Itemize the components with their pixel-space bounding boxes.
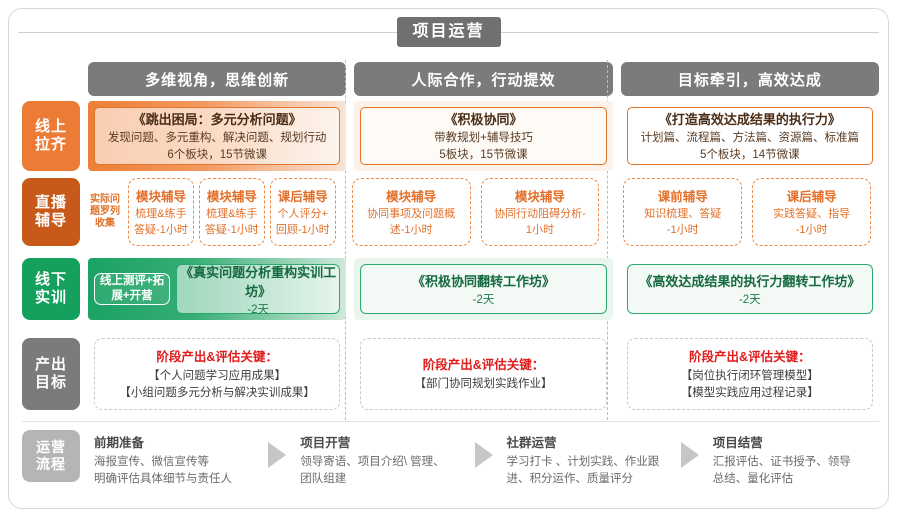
live-card-1-1: 模块辅导 梳理&练手 答疑-1小时 — [128, 178, 194, 246]
online-card-1: 《跳出困局：多元分析问题》 发现问题、多元重构、解决问题、规划行动 6个板块，1… — [94, 107, 340, 165]
offline-card-2-line1: -2天 — [473, 291, 495, 307]
online-card-2-line1: 带教规划+辅导技巧 — [434, 130, 533, 147]
offline-card-2: 《积极协同翻转工作坊》 -2天 — [360, 264, 606, 314]
offline-card-1-line1: -2天 — [247, 301, 269, 317]
process-arrow-1-icon — [260, 430, 294, 470]
column-header-row: 多维视角，思维创新 人际合作，行动提效 目标牵引，高效达成 — [88, 62, 879, 96]
process-arrow-3-icon — [673, 430, 707, 470]
live-card-3-2-line1: 实践答疑、指导 — [773, 207, 850, 223]
online-card-2-title: 《积极协同》 — [444, 109, 522, 128]
live-card-2-2-title: 模块辅导 — [515, 186, 565, 205]
live-card-1-1-line2: 答疑-1小时 — [134, 223, 188, 239]
output-card-3-line2: 【模型实践应用过程记录】 — [681, 385, 819, 402]
row-live-coaching: 直播 辅导 实际问题罗列收集 模块辅导 梳理&练手 答疑-1小时 模块辅导 梳理… — [22, 178, 879, 246]
row-offline-training: 线下 实训 线上测评+拓展+开营 《真实问题分析重构实训工坊》 -2天 《积极协… — [22, 258, 879, 320]
process-step-2-line2: 团队组建 — [300, 471, 462, 488]
process-step-3-line1: 学习打卡 、计划实践、作业跟 — [507, 454, 669, 471]
live-side-note: 实际问题罗列收集 — [88, 194, 122, 231]
live-card-2-2: 模块辅导 协同行动阻碍分析- 1小时 — [481, 178, 600, 246]
live-card-1-2-line1: 梳理&练手 — [206, 207, 257, 223]
output-cell-1: 阶段产出&评估关键： 【个人问题学习应用成果】 【小组问题多元分析与解决实训成果… — [88, 338, 346, 410]
process-section-divider — [22, 421, 879, 422]
output-card-1-line1: 【个人问题学习应用成果】 — [148, 368, 286, 385]
offline-card-3-line1: -2天 — [739, 291, 761, 307]
process-arrow-2-icon — [467, 430, 501, 470]
output-cell-2: 阶段产出&评估关键： 【部门协同规划实践作业】 — [354, 338, 612, 410]
live-card-2-1-line1: 协同事项及问题概 — [367, 207, 455, 223]
online-card-2: 《积极协同》 带教规划+辅导技巧 5板块，15节微课 — [360, 107, 606, 165]
online-card-3: 《打造高效达成结果的执行力》 计划篇、流程篇、方法篇、资源篇、标准篇 5个板块，… — [627, 107, 873, 165]
row-operation-process: 运营 流程 前期准备 海报宣传、微信宣传等 明确评估具体细节与责任人 项目开营 … — [22, 430, 879, 494]
output-card-2-title: 阶段产出&评估关键： — [423, 354, 545, 373]
output-card-1-line2: 【小组问题多元分析与解决实训成果】 — [119, 385, 315, 402]
column-header-1: 多维视角，思维创新 — [88, 62, 346, 96]
row-label-live: 直播 辅导 — [22, 178, 80, 246]
output-card-3: 阶段产出&评估关键： 【岗位执行闭环管理模型】 【模型实践应用过程记录】 — [627, 338, 873, 410]
output-card-1-title: 阶段产出&评估关键： — [156, 346, 278, 365]
live-card-1-3: 课后辅导 个人评分+ 回顾-1小时 — [270, 178, 336, 246]
row-label-live-line1: 直播 — [35, 194, 67, 211]
row-label-output-line1: 产出 — [35, 356, 67, 373]
live-card-1-3-title: 课后辅导 — [278, 186, 328, 205]
process-step-2-title: 项目开营 — [300, 432, 462, 451]
offline-cell-2: 《积极协同翻转工作坊》 -2天 — [354, 258, 612, 320]
online-cell-1: 《跳出困局：多元分析问题》 发现问题、多元重构、解决问题、规划行动 6个板块，1… — [88, 101, 346, 171]
row-label-output: 产出 目标 — [22, 338, 80, 410]
live-card-1-2: 模块辅导 梳理&练手 答疑-1小时 — [199, 178, 265, 246]
offline-cell-1: 线上测评+拓展+开营 《真实问题分析重构实训工坊》 -2天 — [88, 258, 346, 320]
live-cell-3: 课前辅导 知识梳理、答疑 -1小时 课后辅导 实践答疑、指导 -1小时 — [615, 178, 879, 246]
row-output-goals: 产出 目标 阶段产出&评估关键： 【个人问题学习应用成果】 【小组问题多元分析与… — [22, 338, 879, 410]
live-card-3-1-line2: -1小时 — [667, 223, 699, 239]
column-header-2: 人际合作，行动提效 — [354, 62, 612, 96]
output-card-2: 阶段产出&评估关键： 【部门协同规划实践作业】 — [360, 338, 606, 410]
offline-card-2-title: 《积极协同翻转工作坊》 — [412, 271, 555, 290]
online-cell-2: 《积极协同》 带教规划+辅导技巧 5板块，15节微课 — [354, 101, 612, 171]
slide-title-row: 项目运营 — [18, 16, 879, 48]
process-step-1-title: 前期准备 — [94, 432, 256, 451]
row-online-alignment: 线上 拉齐 《跳出困局：多元分析问题》 发现问题、多元重构、解决问题、规划行动 … — [22, 101, 879, 171]
row-label-online: 线上 拉齐 — [22, 101, 80, 171]
online-card-1-line1: 发现问题、多元重构、解决问题、规划行动 — [108, 130, 327, 147]
live-cell-1: 实际问题罗列收集 模块辅导 梳理&练手 答疑-1小时 模块辅导 梳理&练手 答疑… — [88, 178, 336, 246]
row-label-process-line1: 运营 — [36, 439, 66, 455]
live-card-2-2-line2: 1小时 — [526, 223, 554, 239]
row-label-online-line2: 拉齐 — [35, 136, 67, 153]
live-card-2-2-line1: 协同行动阻碍分析- — [494, 207, 586, 223]
offline-entry-tag: 线上测评+拓展+开营 — [94, 273, 170, 305]
column-header-3: 目标牵引，高效达成 — [621, 62, 879, 96]
page-title: 项目运营 — [397, 17, 501, 47]
slide-canvas: 项目运营 多维视角，思维创新 人际合作，行动提效 目标牵引，高效达成 线上 拉齐… — [0, 0, 897, 517]
live-card-3-2: 课后辅导 实践答疑、指导 -1小时 — [752, 178, 871, 246]
process-step-1-line2: 明确评估具体细节与责任人 — [94, 471, 256, 488]
process-step-3: 社群运营 学习打卡 、计划实践、作业跟 进、积分运作、质量评分 — [501, 430, 673, 489]
output-card-3-line1: 【岗位执行闭环管理模型】 — [681, 368, 819, 385]
row-label-process-line2: 流程 — [36, 456, 66, 472]
live-card-3-1-title: 课前辅导 — [658, 186, 708, 205]
live-card-3-1-line1: 知识梳理、答疑 — [644, 207, 721, 223]
process-step-1-line1: 海报宣传、微信宣传等 — [94, 454, 256, 471]
online-card-1-line2: 6个板块，15节微课 — [167, 147, 267, 164]
output-cell-3: 阶段产出&评估关键： 【岗位执行闭环管理模型】 【模型实践应用过程记录】 — [621, 338, 879, 410]
offline-cell-3: 《高效达成结果的执行力翻转工作坊》 -2天 — [621, 258, 879, 320]
live-card-2-1: 模块辅导 协同事项及问题概 述-1小时 — [352, 178, 471, 246]
online-card-3-title: 《打造高效达成结果的执行力》 — [659, 109, 841, 128]
live-card-1-1-line1: 梳理&练手 — [135, 207, 186, 223]
process-step-4-title: 项目结营 — [713, 432, 875, 451]
live-card-2-1-title: 模块辅导 — [386, 186, 436, 205]
live-card-1-2-title: 模块辅导 — [207, 186, 257, 205]
offline-card-1-title: 《真实问题分析重构实训工坊》 — [177, 262, 339, 300]
online-card-1-title: 《跳出困局：多元分析问题》 — [133, 109, 302, 128]
live-card-3-2-line2: -1小时 — [796, 223, 828, 239]
output-card-1: 阶段产出&评估关键： 【个人问题学习应用成果】 【小组问题多元分析与解决实训成果… — [94, 338, 340, 410]
row-label-output-line2: 目标 — [35, 374, 67, 391]
process-step-2-line1: 领导寄语、项目介绍\ 管理、 — [300, 454, 462, 471]
live-card-1-2-line2: 答疑-1小时 — [205, 223, 259, 239]
offline-card-3-title: 《高效达成结果的执行力翻转工作坊》 — [639, 271, 860, 290]
online-cell-3: 《打造高效达成结果的执行力》 计划篇、流程篇、方法篇、资源篇、标准篇 5个板块，… — [621, 101, 879, 171]
live-card-2-1-line2: 述-1小时 — [390, 223, 433, 239]
title-rule-right — [501, 32, 880, 33]
live-card-3-2-title: 课后辅导 — [787, 186, 837, 205]
process-step-4-line1: 汇报评估、证书授予、领导 — [713, 454, 875, 471]
process-step-3-line2: 进、积分运作、质量评分 — [507, 471, 669, 488]
output-card-3-title: 阶段产出&评估关键： — [689, 346, 811, 365]
live-cell-2: 模块辅导 协同事项及问题概 述-1小时 模块辅导 协同行动阻碍分析- 1小时 — [344, 178, 608, 246]
row-label-live-line2: 辅导 — [35, 212, 67, 229]
process-step-3-title: 社群运营 — [507, 432, 669, 451]
process-step-4-line2: 总结、量化评估 — [713, 471, 875, 488]
online-card-3-line1: 计划篇、流程篇、方法篇、资源篇、标准篇 — [641, 130, 860, 147]
online-card-2-line2: 5板块，15节微课 — [439, 147, 527, 164]
process-step-1: 前期准备 海报宣传、微信宣传等 明确评估具体细节与责任人 — [88, 430, 260, 489]
live-card-3-1: 课前辅导 知识梳理、答疑 -1小时 — [623, 178, 742, 246]
process-step-2: 项目开营 领导寄语、项目介绍\ 管理、 团队组建 — [294, 430, 466, 489]
row-label-offline: 线下 实训 — [22, 258, 80, 320]
offline-card-1: 《真实问题分析重构实训工坊》 -2天 — [176, 264, 340, 314]
row-label-online-line1: 线上 — [35, 118, 67, 135]
live-card-1-1-title: 模块辅导 — [136, 186, 186, 205]
online-card-3-line2: 5个板块，14节微课 — [700, 147, 800, 164]
offline-card-3: 《高效达成结果的执行力翻转工作坊》 -2天 — [627, 264, 873, 314]
process-step-4: 项目结营 汇报评估、证书授予、领导 总结、量化评估 — [707, 430, 879, 489]
output-card-2-line1: 【部门协同规划实践作业】 — [414, 376, 552, 393]
row-label-process: 运营 流程 — [22, 430, 80, 482]
row-label-offline-line1: 线下 — [35, 271, 67, 288]
title-rule-left — [18, 32, 397, 33]
live-card-1-3-line2: 回顾-1小时 — [276, 223, 330, 239]
row-label-offline-line2: 实训 — [35, 289, 67, 306]
process-flow: 前期准备 海报宣传、微信宣传等 明确评估具体细节与责任人 项目开营 领导寄语、项… — [88, 430, 879, 489]
live-card-1-3-line1: 个人评分+ — [278, 207, 328, 223]
